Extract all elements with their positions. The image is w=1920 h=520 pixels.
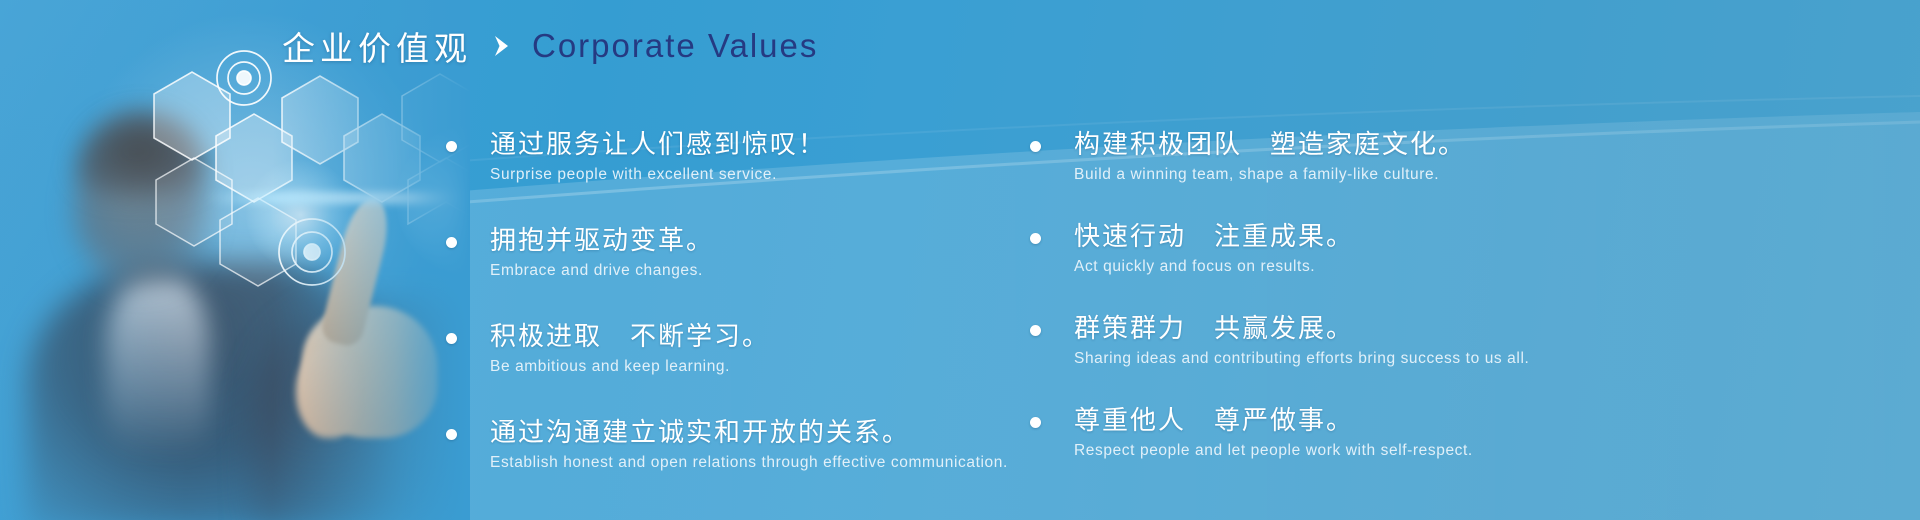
- value-text-en: Surprise people with excellent service.: [490, 163, 1078, 186]
- bullet-dot-icon: [1030, 417, 1041, 428]
- value-item: 通过沟通建立诚实和开放的关系。 Establish honest and ope…: [438, 416, 1078, 474]
- corporate-values-banner: 企业价值观 Corporate Values 通过服务让人们感到惊叹！ Surp…: [0, 0, 1920, 520]
- value-text-cn: 积极进取 不断学习。: [490, 320, 1078, 353]
- value-text-cn: 尊重他人 尊严做事。: [1074, 404, 1902, 437]
- bullet-dot-icon: [1030, 141, 1041, 152]
- value-item: 群策群力 共赢发展。 Sharing ideas and contributin…: [1022, 312, 1902, 370]
- value-text-en: Act quickly and focus on results.: [1074, 255, 1902, 278]
- values-columns: 通过服务让人们感到惊叹！ Surprise people with excell…: [0, 0, 1920, 520]
- value-text-cn: 构建积极团队 塑造家庭文化。: [1074, 128, 1902, 161]
- values-column-left: 通过服务让人们感到惊叹！ Surprise people with excell…: [438, 128, 1078, 512]
- bullet-dot-icon: [446, 141, 457, 152]
- value-text-en: Establish honest and open relations thro…: [490, 451, 1078, 474]
- value-item: 快速行动 注重成果。 Act quickly and focus on resu…: [1022, 220, 1902, 278]
- value-item: 通过服务让人们感到惊叹！ Surprise people with excell…: [438, 128, 1078, 186]
- value-text-cn: 快速行动 注重成果。: [1074, 220, 1902, 253]
- bullet-dot-icon: [1030, 325, 1041, 336]
- value-text-en: Build a winning team, shape a family-lik…: [1074, 163, 1902, 186]
- value-item: 积极进取 不断学习。 Be ambitious and keep learnin…: [438, 320, 1078, 378]
- value-text-cn: 群策群力 共赢发展。: [1074, 312, 1902, 345]
- value-text-cn: 拥抱并驱动变革。: [490, 224, 1078, 257]
- value-item: 构建积极团队 塑造家庭文化。 Build a winning team, sha…: [1022, 128, 1902, 186]
- value-text-en: Embrace and drive changes.: [490, 259, 1078, 282]
- value-text-cn: 通过沟通建立诚实和开放的关系。: [490, 416, 1078, 449]
- value-text-cn: 通过服务让人们感到惊叹！: [490, 128, 1078, 161]
- value-text-en: Be ambitious and keep learning.: [490, 355, 1078, 378]
- bullet-dot-icon: [446, 429, 457, 440]
- bullet-dot-icon: [1030, 233, 1041, 244]
- values-column-right: 构建积极团队 塑造家庭文化。 Build a winning team, sha…: [1022, 128, 1902, 496]
- value-text-en: Sharing ideas and contributing efforts b…: [1074, 347, 1902, 370]
- value-item: 尊重他人 尊严做事。 Respect people and let people…: [1022, 404, 1902, 462]
- bullet-dot-icon: [446, 237, 457, 248]
- value-item: 拥抱并驱动变革。 Embrace and drive changes.: [438, 224, 1078, 282]
- value-text-en: Respect people and let people work with …: [1074, 439, 1902, 462]
- bullet-dot-icon: [446, 333, 457, 344]
